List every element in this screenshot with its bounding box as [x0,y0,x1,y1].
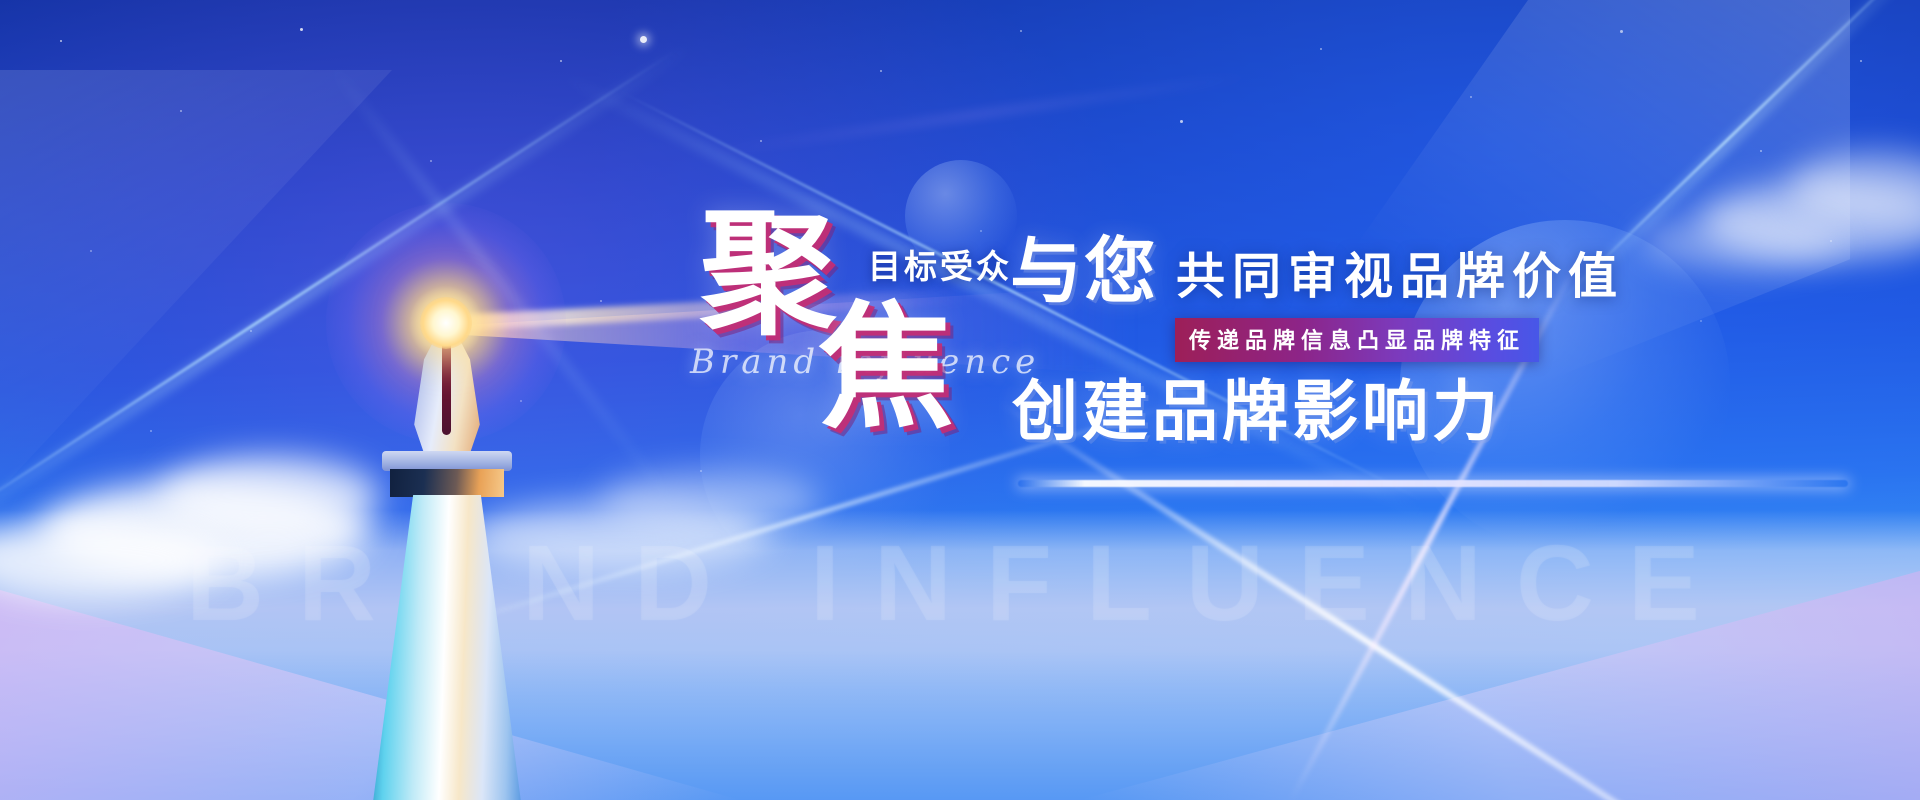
headline-char-jiao: 焦 [818,302,954,438]
tagline-badge-label: 传递品牌信息凸显品牌特征 [1189,328,1525,353]
with-you-text: 与您 [1010,236,1158,308]
beacon-light [420,297,472,349]
lighthouse-gallery [382,451,512,471]
lighthouse-band [390,469,504,497]
lighthouse-illustration [310,255,530,800]
headline-block: 聚 目标受众 Brand influence 焦 与您 共同审视品牌价值 传递品… [700,230,1850,530]
cloud [1790,150,1920,220]
banner-canvas: BRAND INFLUENCE 聚 目标受众 Brand influence 焦… [0,0,1920,800]
divider-rule [1018,480,1848,487]
lighthouse-tower [370,495,524,800]
headline-char-ju: 聚 [700,208,836,344]
water-band [0,650,1920,800]
tagline-badge: 传递品牌信息凸显品牌特征 [1175,318,1539,362]
review-value-text: 共同审视品牌价值 [1176,253,1624,308]
audience-label: 目标受众 [868,240,1012,288]
build-influence-text: 创建品牌影响力 [1012,378,1502,444]
copy-line-primary: 与您 共同审视品牌价值 [1010,236,1624,308]
light-ray [700,72,1256,157]
